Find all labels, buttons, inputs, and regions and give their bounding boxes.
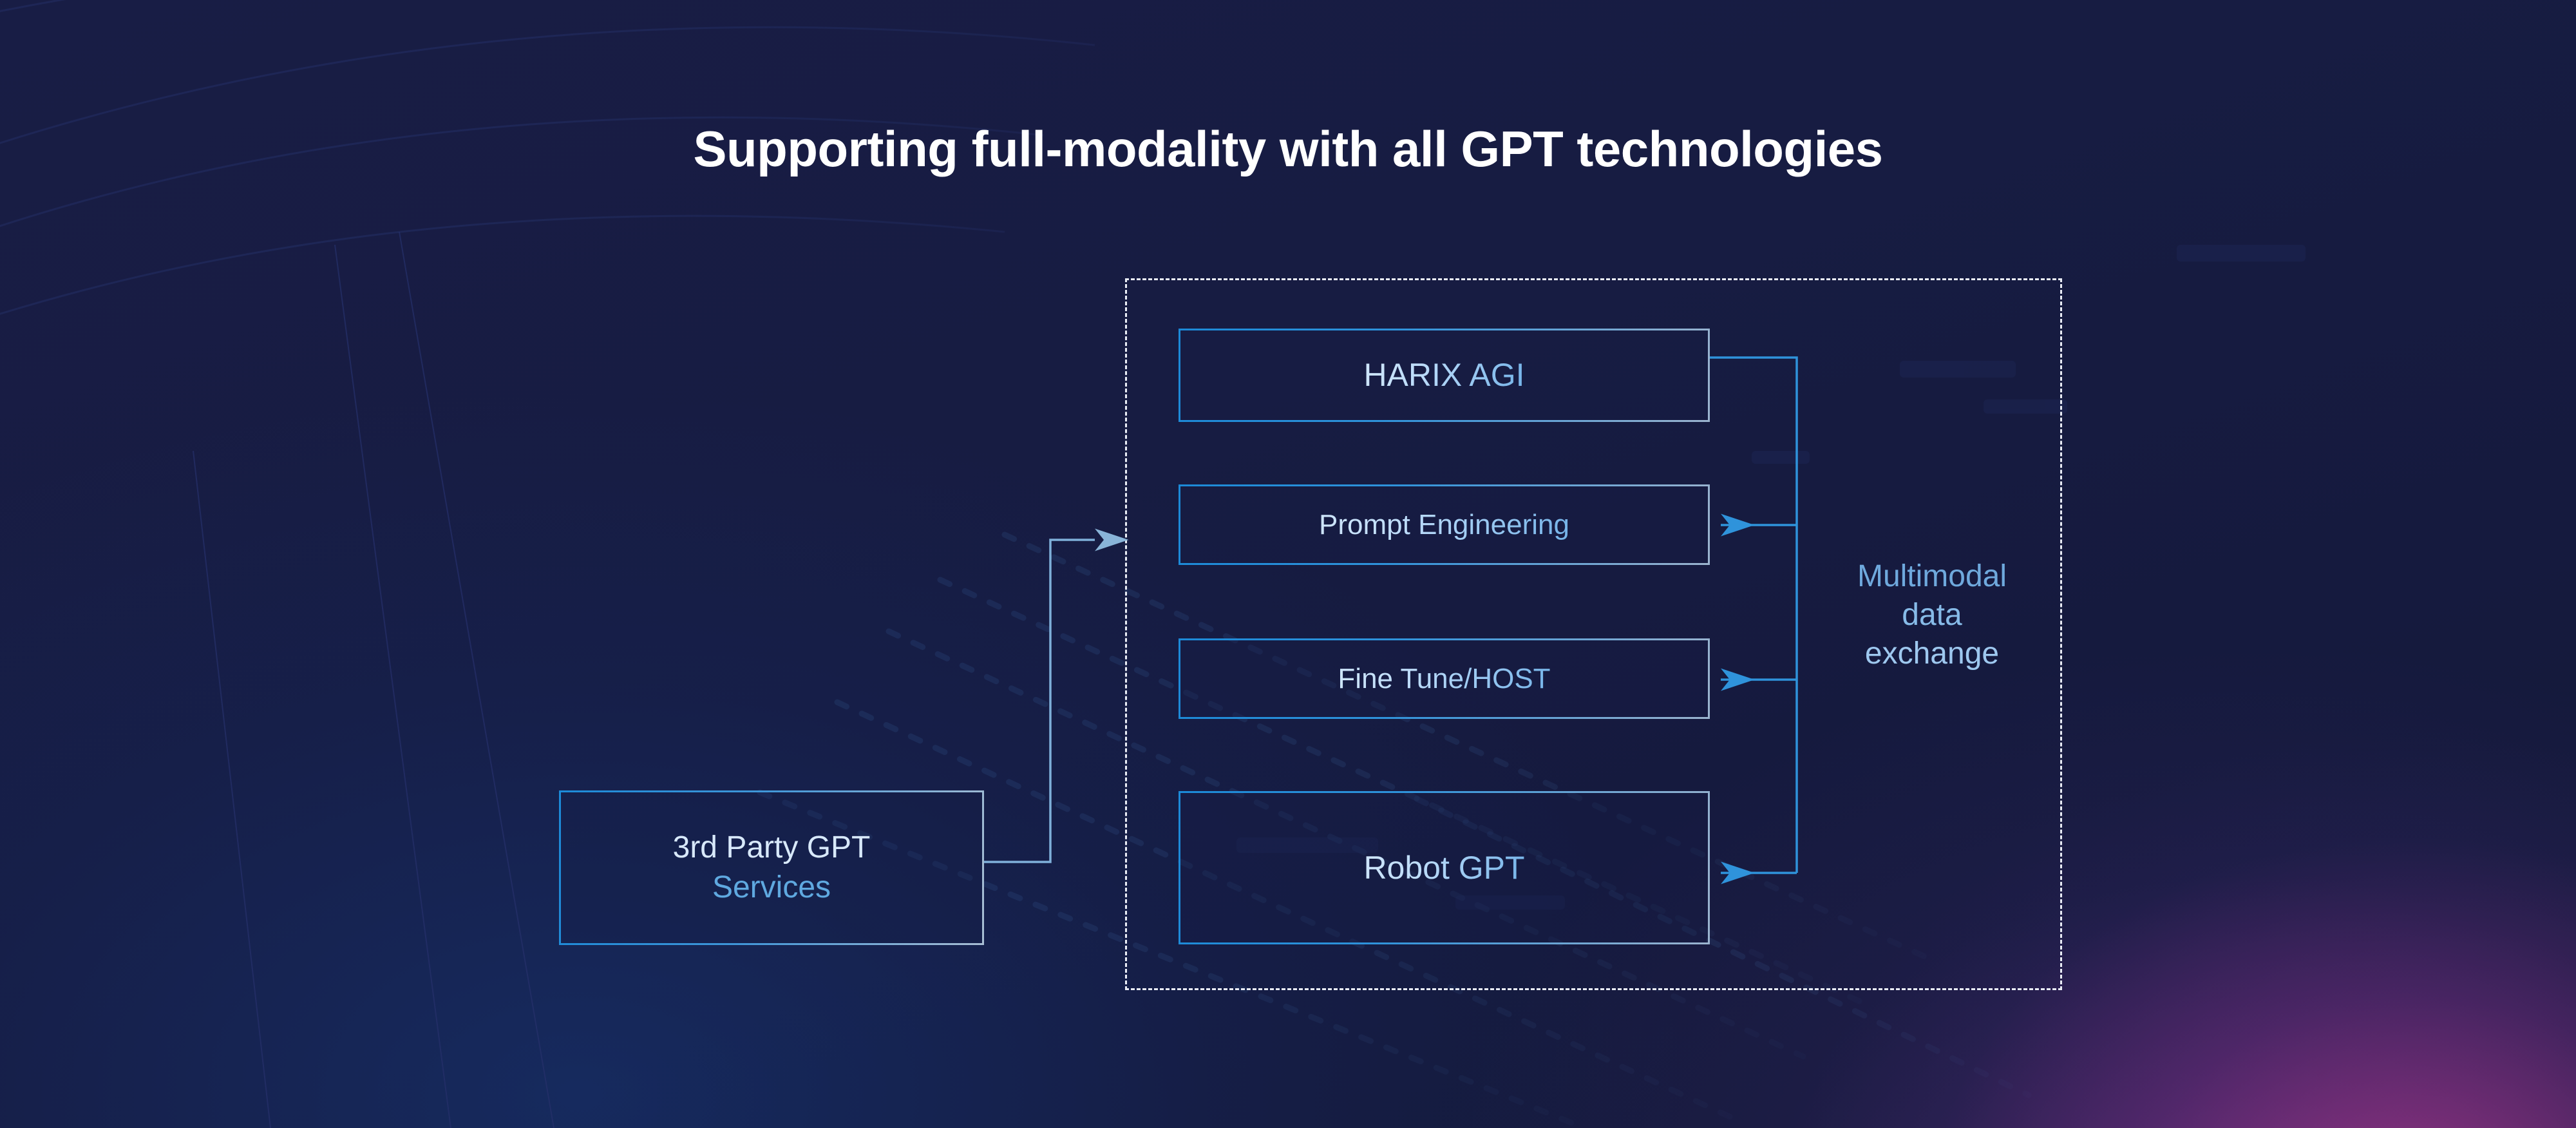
third-party-line2: Services xyxy=(712,868,831,908)
slide-canvas: Supporting full-modality with all GPT te… xyxy=(0,0,2576,1128)
multimodal-line2: data xyxy=(1803,596,2061,635)
third-party-line1: 3rd Party GPT xyxy=(673,828,871,868)
node-fine-tune-host[interactable]: Fine Tune/HOST xyxy=(1179,638,1710,719)
node-fine-tune-host-label: Fine Tune/HOST xyxy=(1338,661,1550,696)
multimodal-line3: exchange xyxy=(1803,635,2061,673)
node-harix-agi-label: HARIX AGI xyxy=(1363,355,1524,396)
background-arcs xyxy=(0,0,1159,451)
node-harix-agi[interactable]: HARIX AGI xyxy=(1179,329,1710,422)
node-third-party-gpt-services[interactable]: 3rd Party GPT Services xyxy=(559,790,984,945)
node-robot-gpt-label: Robot GPT xyxy=(1363,848,1524,888)
arrow-from-third-party-services xyxy=(984,540,1095,862)
multimodal-data-exchange-label: Multimodal data exchange xyxy=(1803,557,2061,673)
node-prompt-engineering-label: Prompt Engineering xyxy=(1319,507,1569,542)
multimodal-line1: Multimodal xyxy=(1803,557,2061,596)
background-verticals xyxy=(193,232,554,1128)
node-prompt-engineering[interactable]: Prompt Engineering xyxy=(1179,484,1710,565)
page-title: Supporting full-modality with all GPT te… xyxy=(0,124,2576,174)
node-robot-gpt[interactable]: Robot GPT xyxy=(1179,791,1710,944)
